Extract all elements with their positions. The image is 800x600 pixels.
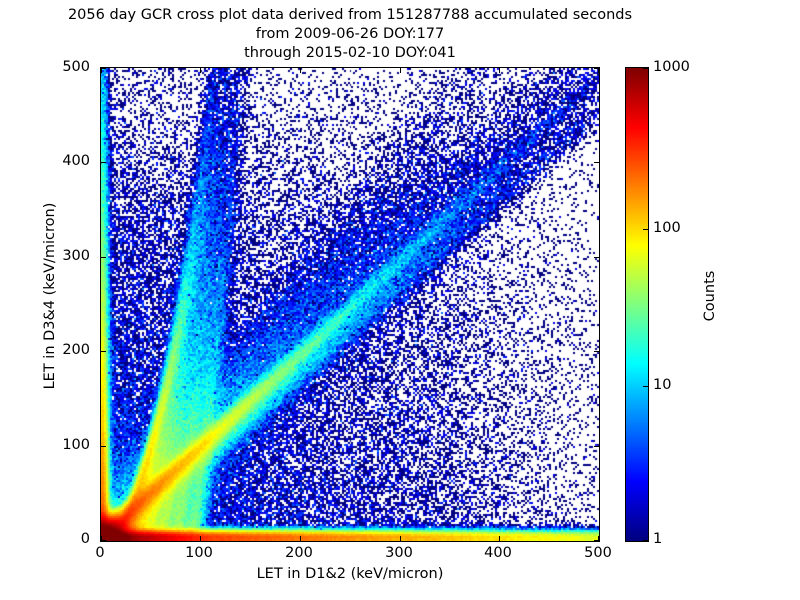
xticklabel-0: 0 — [70, 545, 130, 561]
ytick-right-200 — [594, 351, 599, 352]
yticklabel-400: 400 — [30, 153, 90, 169]
title-line-3: through 2015-02-10 DOY:041 — [0, 44, 700, 63]
ytick-500 — [101, 68, 106, 69]
ytick-right-400 — [594, 162, 599, 163]
cbtick-1000 — [643, 68, 648, 69]
xtick-300 — [400, 536, 401, 541]
colorbar[interactable] — [625, 67, 649, 542]
xticklabel-300: 300 — [369, 545, 429, 561]
cbticklabel-10: 10 — [653, 377, 671, 393]
xticklabel-400: 400 — [468, 545, 528, 561]
xtick-top-400 — [499, 68, 500, 73]
xtick-top-300 — [400, 68, 401, 73]
xtick-top-200 — [300, 68, 301, 73]
title-line-2: from 2009-06-26 DOY:177 — [0, 25, 700, 44]
colorbar-label: Counts — [702, 221, 718, 371]
xtick-100 — [200, 536, 201, 541]
ytick-right-300 — [594, 257, 599, 258]
plot-area[interactable] — [100, 67, 600, 542]
xtick-400 — [499, 536, 500, 541]
yticklabel-0: 0 — [30, 531, 90, 547]
yticklabel-100: 100 — [30, 437, 90, 453]
cbticklabel-100: 100 — [653, 220, 681, 236]
ytick-300 — [101, 257, 106, 258]
xticklabel-500: 500 — [568, 545, 628, 561]
ytick-0 — [101, 540, 106, 541]
cbtick-10 — [643, 386, 648, 387]
ytick-200 — [101, 351, 106, 352]
cbticklabel-1: 1 — [653, 531, 662, 547]
x-axis-label: LET in D1&2 (keV/micron) — [100, 566, 600, 582]
chart-title: 2056 day GCR cross plot data derived fro… — [0, 6, 700, 63]
xtick-200 — [300, 536, 301, 541]
y-axis-label: LET in D3&4 (keV/micron) — [42, 146, 58, 446]
colorbar-gradient — [626, 68, 648, 541]
ytick-right-500 — [594, 68, 599, 69]
cbtick-1 — [643, 540, 648, 541]
title-line-1: 2056 day GCR cross plot data derived fro… — [0, 6, 700, 25]
yticklabel-500: 500 — [30, 59, 90, 75]
ytick-right-100 — [594, 446, 599, 447]
xtick-top-100 — [200, 68, 201, 73]
ytick-right-0 — [594, 540, 599, 541]
cbticklabel-1000: 1000 — [653, 59, 690, 75]
yticklabel-300: 300 — [30, 248, 90, 264]
xticklabel-100: 100 — [169, 545, 229, 561]
ytick-400 — [101, 162, 106, 163]
ytick-100 — [101, 446, 106, 447]
xticklabel-200: 200 — [269, 545, 329, 561]
cbtick-100 — [643, 229, 648, 230]
density-scatter-canvas — [101, 68, 599, 541]
yticklabel-200: 200 — [30, 342, 90, 358]
